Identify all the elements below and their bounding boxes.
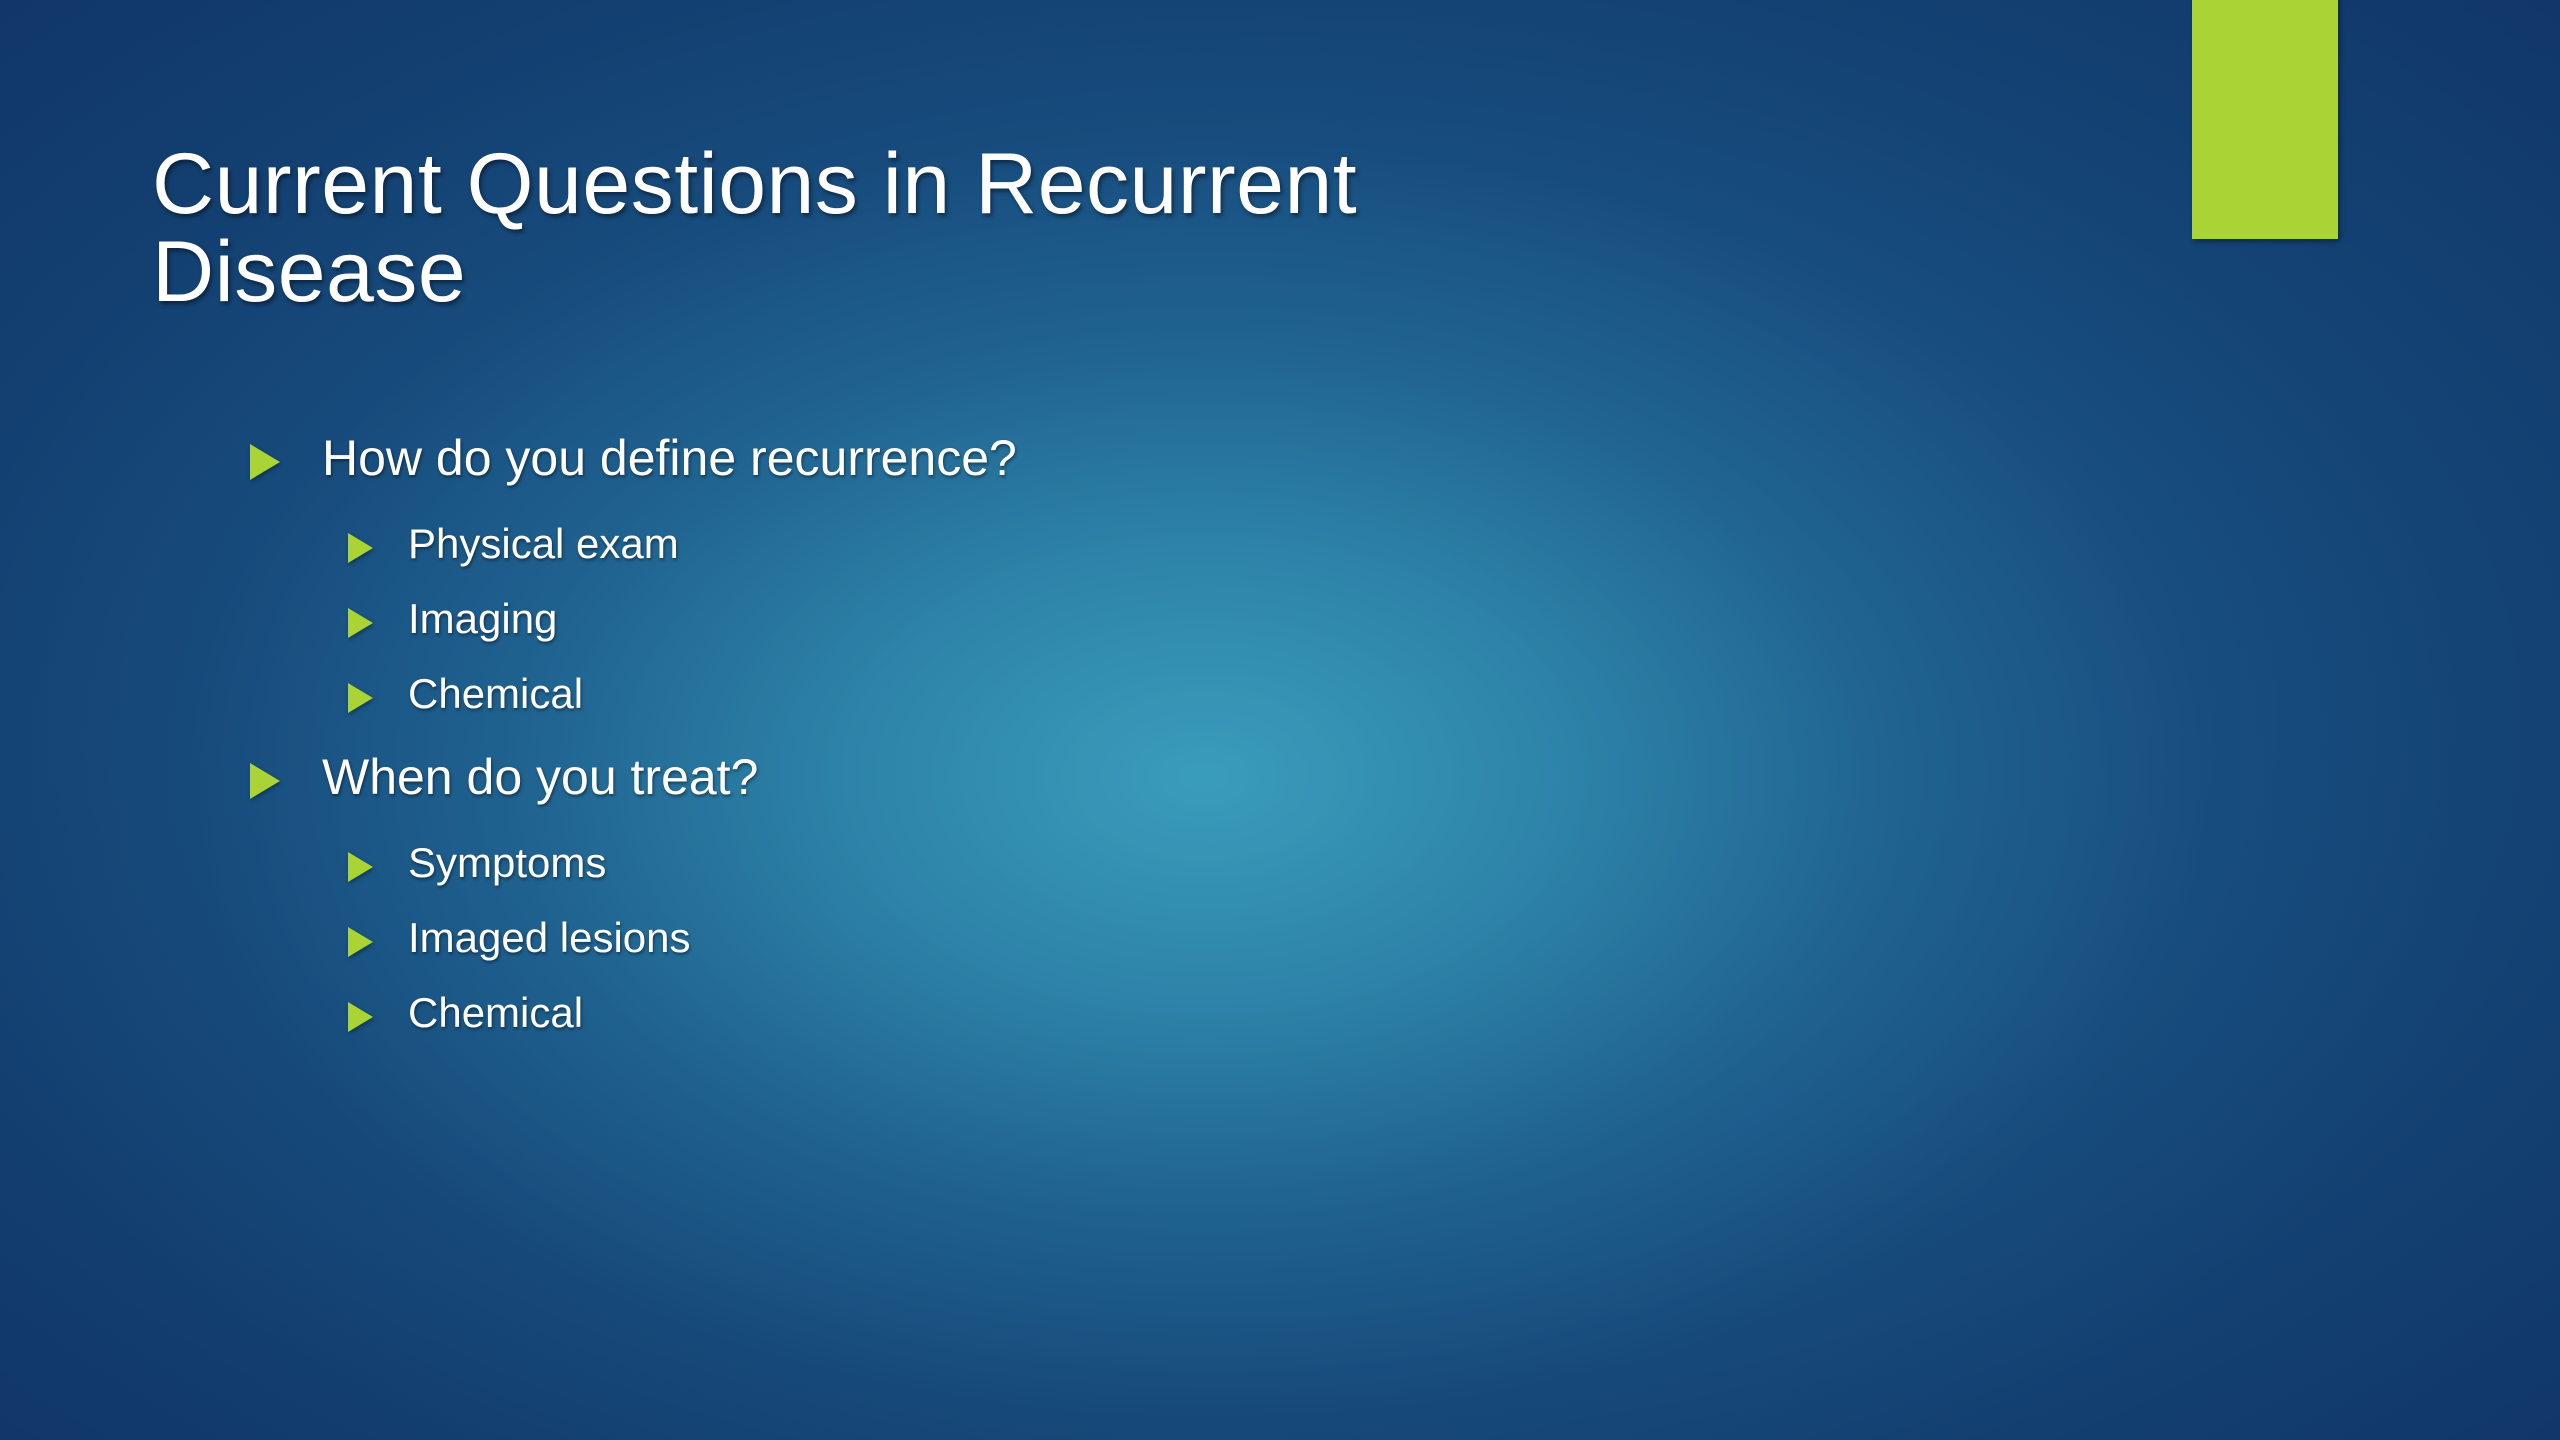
bullet-label: Chemical — [408, 989, 583, 1036]
bullet-item-level2: Imaging — [0, 595, 2000, 642]
spacer — [0, 971, 2000, 989]
slide-title-line-1: Current Questions in Recurrent — [152, 136, 1357, 232]
spacer — [0, 817, 2000, 839]
bullet-label: Symptoms — [408, 839, 606, 886]
triangle-right-icon — [250, 444, 280, 480]
bullet-item-level1: When do you treat? — [0, 749, 2000, 805]
spacer — [0, 652, 2000, 670]
bullet-label: How do you define recurrence? — [322, 430, 1017, 486]
bullet-label: Physical exam — [408, 520, 679, 567]
bullet-label: Chemical — [408, 670, 583, 717]
bullet-item-level2: Chemical — [0, 989, 2000, 1036]
bullet-item-level2: Physical exam — [0, 520, 2000, 567]
green-accent-rectangle — [2192, 0, 2338, 239]
bullet-item-level2: Imaged lesions — [0, 914, 2000, 961]
slide-title: Current Questions in Recurrent Disease — [152, 140, 1912, 317]
bullet-item-level2: Symptoms — [0, 839, 2000, 886]
spacer — [0, 727, 2000, 749]
triangle-right-icon — [348, 608, 373, 638]
bullet-label: Imaged lesions — [408, 914, 691, 961]
slide-title-line-2: Disease — [152, 224, 466, 320]
slide-body-bullet-list: How do you define recurrence? Physical e… — [0, 430, 2000, 1046]
presentation-slide: Current Questions in Recurrent Disease H… — [0, 0, 2560, 1440]
triangle-right-icon — [348, 1002, 373, 1032]
spacer — [0, 498, 2000, 520]
triangle-right-icon — [348, 927, 373, 957]
triangle-right-icon — [348, 683, 373, 713]
triangle-right-icon — [348, 533, 373, 563]
bullet-item-level2: Chemical — [0, 670, 2000, 717]
triangle-right-icon — [250, 763, 280, 799]
triangle-right-icon — [348, 852, 373, 882]
bullet-item-level1: How do you define recurrence? — [0, 430, 2000, 486]
bullet-label: Imaging — [408, 595, 557, 642]
bullet-label: When do you treat? — [322, 749, 758, 805]
spacer — [0, 896, 2000, 914]
spacer — [0, 577, 2000, 595]
